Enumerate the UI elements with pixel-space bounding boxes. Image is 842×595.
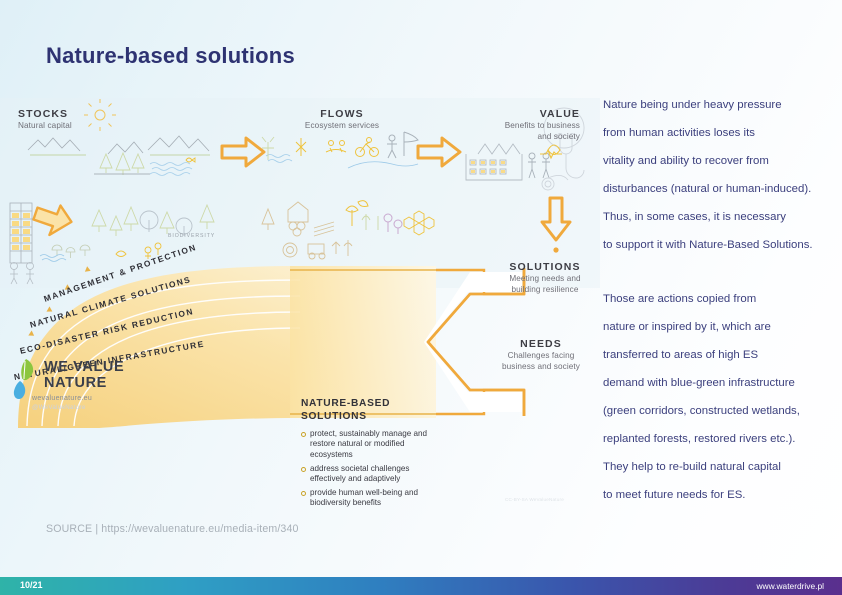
caption-value-heading: VALUE xyxy=(430,108,580,121)
body-line: demand with blue-green infrastructure xyxy=(603,369,839,397)
caption-stocks: STOCKS Natural capital xyxy=(18,108,72,132)
body-line: nature or inspired by it, which are xyxy=(603,313,839,341)
body-line: vitality and ability to recover from xyxy=(603,147,839,175)
body-line: to support it with Nature-Based Solution… xyxy=(603,231,839,259)
nbs-title-line2: SOLUTIONS xyxy=(301,411,429,424)
logo-name: WE VALUE NATURE xyxy=(44,359,124,391)
caption-needs: NEEDS Challenges facing business and soc… xyxy=(482,338,600,372)
nbs-title-line1: NATURE-BASED xyxy=(301,398,429,411)
caption-needs-sub2: business and society xyxy=(482,362,600,373)
caption-value: VALUE Benefits to business and society xyxy=(430,108,580,142)
source-line[interactable]: SOURCE | https://wevaluenature.eu/media-… xyxy=(46,523,299,535)
body-line: Nature being under heavy pressure xyxy=(603,91,839,119)
body-text-column: Nature being under heavy pressure from h… xyxy=(603,91,839,509)
caption-stocks-sub: Natural capital xyxy=(18,121,72,132)
slide-root: Nature-based solutions xyxy=(0,0,842,595)
page-title: Nature-based solutions xyxy=(46,43,295,69)
logo-name-line1: WE VALUE xyxy=(44,359,124,375)
body-line: (green corridors, constructed wetlands, xyxy=(603,397,839,425)
caption-stocks-heading: STOCKS xyxy=(18,108,72,121)
page-number: 10/21 xyxy=(20,580,43,590)
caption-value-sub1: Benefits to business xyxy=(430,121,580,132)
nbs-bullet-list: protect, sustainably manage and restore … xyxy=(301,429,429,508)
caption-needs-heading: NEEDS xyxy=(482,338,600,351)
body-line: Thus, in some cases, it is necessary xyxy=(603,203,839,231)
logo-handle: @WeValueNature xyxy=(32,404,86,411)
paragraph-gap xyxy=(603,259,839,285)
caption-flows-sub: Ecosystem services xyxy=(282,121,402,132)
logo-url: wevaluenature.eu xyxy=(32,395,92,402)
body-line: from human activities loses its xyxy=(603,119,839,147)
logo-name-line2: NATURE xyxy=(44,375,124,391)
caption-solutions-heading: SOLUTIONS xyxy=(490,261,600,274)
caption-solutions-sub2: building resilience xyxy=(490,285,600,296)
caption-value-sub2: and society xyxy=(430,132,580,143)
nbs-bullet: provide human well-being and biodiversit… xyxy=(301,488,429,508)
footer-bar: 10/21 www.waterdrive.pl xyxy=(0,577,842,595)
body-line: They help to re-build natural capital xyxy=(603,453,839,481)
body-line: replanted forests, restored rivers etc.)… xyxy=(603,425,839,453)
nbs-bullet: address societal challenges effectively … xyxy=(301,464,429,484)
body-line: disturbances (natural or human-induced). xyxy=(603,175,839,203)
biodiversity-label: BIODIVERSITY xyxy=(168,233,215,239)
footer-website[interactable]: www.waterdrive.pl xyxy=(757,581,825,591)
nature-based-solutions-box: NATURE-BASED SOLUTIONS protect, sustaina… xyxy=(301,398,429,513)
body-line: Those are actions copied from xyxy=(603,285,839,313)
illustration-credit: CC-BY-SA WeValueNature xyxy=(505,497,564,502)
nbs-bullet: protect, sustainably manage and restore … xyxy=(301,429,429,460)
caption-solutions: SOLUTIONS Meeting needs and building res… xyxy=(490,261,600,295)
body-line: transferred to areas of high ES xyxy=(603,341,839,369)
caption-flows: FLOWS Ecosystem services xyxy=(282,108,402,132)
caption-solutions-sub1: Meeting needs and xyxy=(490,274,600,285)
body-line: to meet future needs for ES. xyxy=(603,481,839,509)
caption-flows-heading: FLOWS xyxy=(282,108,402,121)
caption-needs-sub1: Challenges facing xyxy=(482,351,600,362)
